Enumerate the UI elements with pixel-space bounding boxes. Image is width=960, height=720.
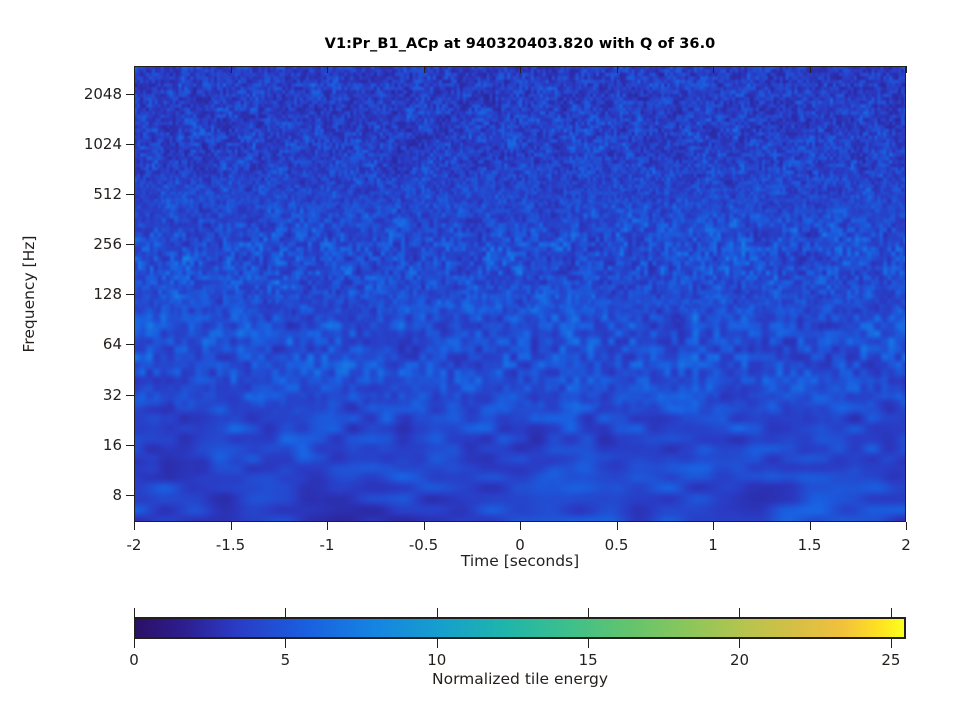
x-tick-mark bbox=[810, 522, 811, 530]
colorbar-tick-mark-top bbox=[891, 608, 892, 617]
x-tick-mark bbox=[231, 522, 232, 530]
y-tick-label: 128 bbox=[93, 285, 122, 303]
y-tick-mark bbox=[126, 395, 134, 396]
x-tick-mark bbox=[134, 522, 135, 530]
x-tick-mark bbox=[424, 522, 425, 530]
spectrogram-heatmap[interactable] bbox=[135, 67, 905, 521]
colorbar-tick-mark bbox=[285, 639, 286, 648]
x-tick-mark bbox=[713, 522, 714, 530]
colorbar-tick-mark bbox=[134, 639, 135, 648]
y-tick-mark bbox=[126, 445, 134, 446]
colorbar-tick-label: 25 bbox=[881, 651, 900, 669]
colorbar-tick-label: 10 bbox=[427, 651, 446, 669]
y-tick-mark bbox=[126, 244, 134, 245]
colorbar-tick-mark bbox=[437, 639, 438, 648]
y-tick-label: 16 bbox=[103, 436, 122, 454]
colorbar-tick-mark-top bbox=[134, 608, 135, 617]
y-tick-mark bbox=[126, 194, 134, 195]
x-tick-mark bbox=[617, 522, 618, 530]
y-tick-mark bbox=[126, 144, 134, 145]
colorbar-tick-mark bbox=[891, 639, 892, 648]
y-tick-mark bbox=[126, 344, 134, 345]
x-tick-mark bbox=[906, 522, 907, 530]
y-tick-label: 64 bbox=[103, 335, 122, 353]
y-tick-label: 256 bbox=[93, 235, 122, 253]
colorbar-tick-mark-top bbox=[588, 608, 589, 617]
colorbar-tick-mark bbox=[588, 639, 589, 648]
colorbar-tick-label: 0 bbox=[129, 651, 139, 669]
x-tick-mark-top bbox=[906, 66, 907, 73]
colorbar-tick-label: 20 bbox=[730, 651, 749, 669]
colorbar-tick-mark-top bbox=[739, 608, 740, 617]
y-tick-mark bbox=[126, 495, 134, 496]
colorbar[interactable] bbox=[134, 617, 906, 639]
x-tick-mark bbox=[327, 522, 328, 530]
colorbar-tick-label: 5 bbox=[281, 651, 291, 669]
colorbar-gradient bbox=[134, 617, 906, 639]
spectrogram-axes[interactable] bbox=[134, 66, 906, 522]
y-tick-mark bbox=[126, 294, 134, 295]
y-axis-label-text: Frequency [Hz] bbox=[20, 194, 38, 394]
colorbar-tick-mark-top bbox=[437, 608, 438, 617]
x-axis-label: Time [seconds] bbox=[134, 552, 906, 570]
colorbar-tick-mark-top bbox=[285, 608, 286, 617]
spectrogram-figure: V1:Pr_B1_ACp at 940320403.820 with Q of … bbox=[0, 0, 960, 720]
colorbar-tick-mark bbox=[739, 639, 740, 648]
x-tick-mark bbox=[520, 522, 521, 530]
y-tick-label: 8 bbox=[112, 486, 122, 504]
y-tick-label: 512 bbox=[93, 185, 122, 203]
colorbar-label: Normalized tile energy bbox=[134, 670, 906, 688]
y-tick-label: 32 bbox=[103, 386, 122, 404]
y-tick-label: 2048 bbox=[84, 85, 122, 103]
colorbar-tick-label: 15 bbox=[579, 651, 598, 669]
y-tick-mark bbox=[126, 94, 134, 95]
page-title: V1:Pr_B1_ACp at 940320403.820 with Q of … bbox=[134, 36, 906, 52]
y-tick-label: 1024 bbox=[84, 135, 122, 153]
